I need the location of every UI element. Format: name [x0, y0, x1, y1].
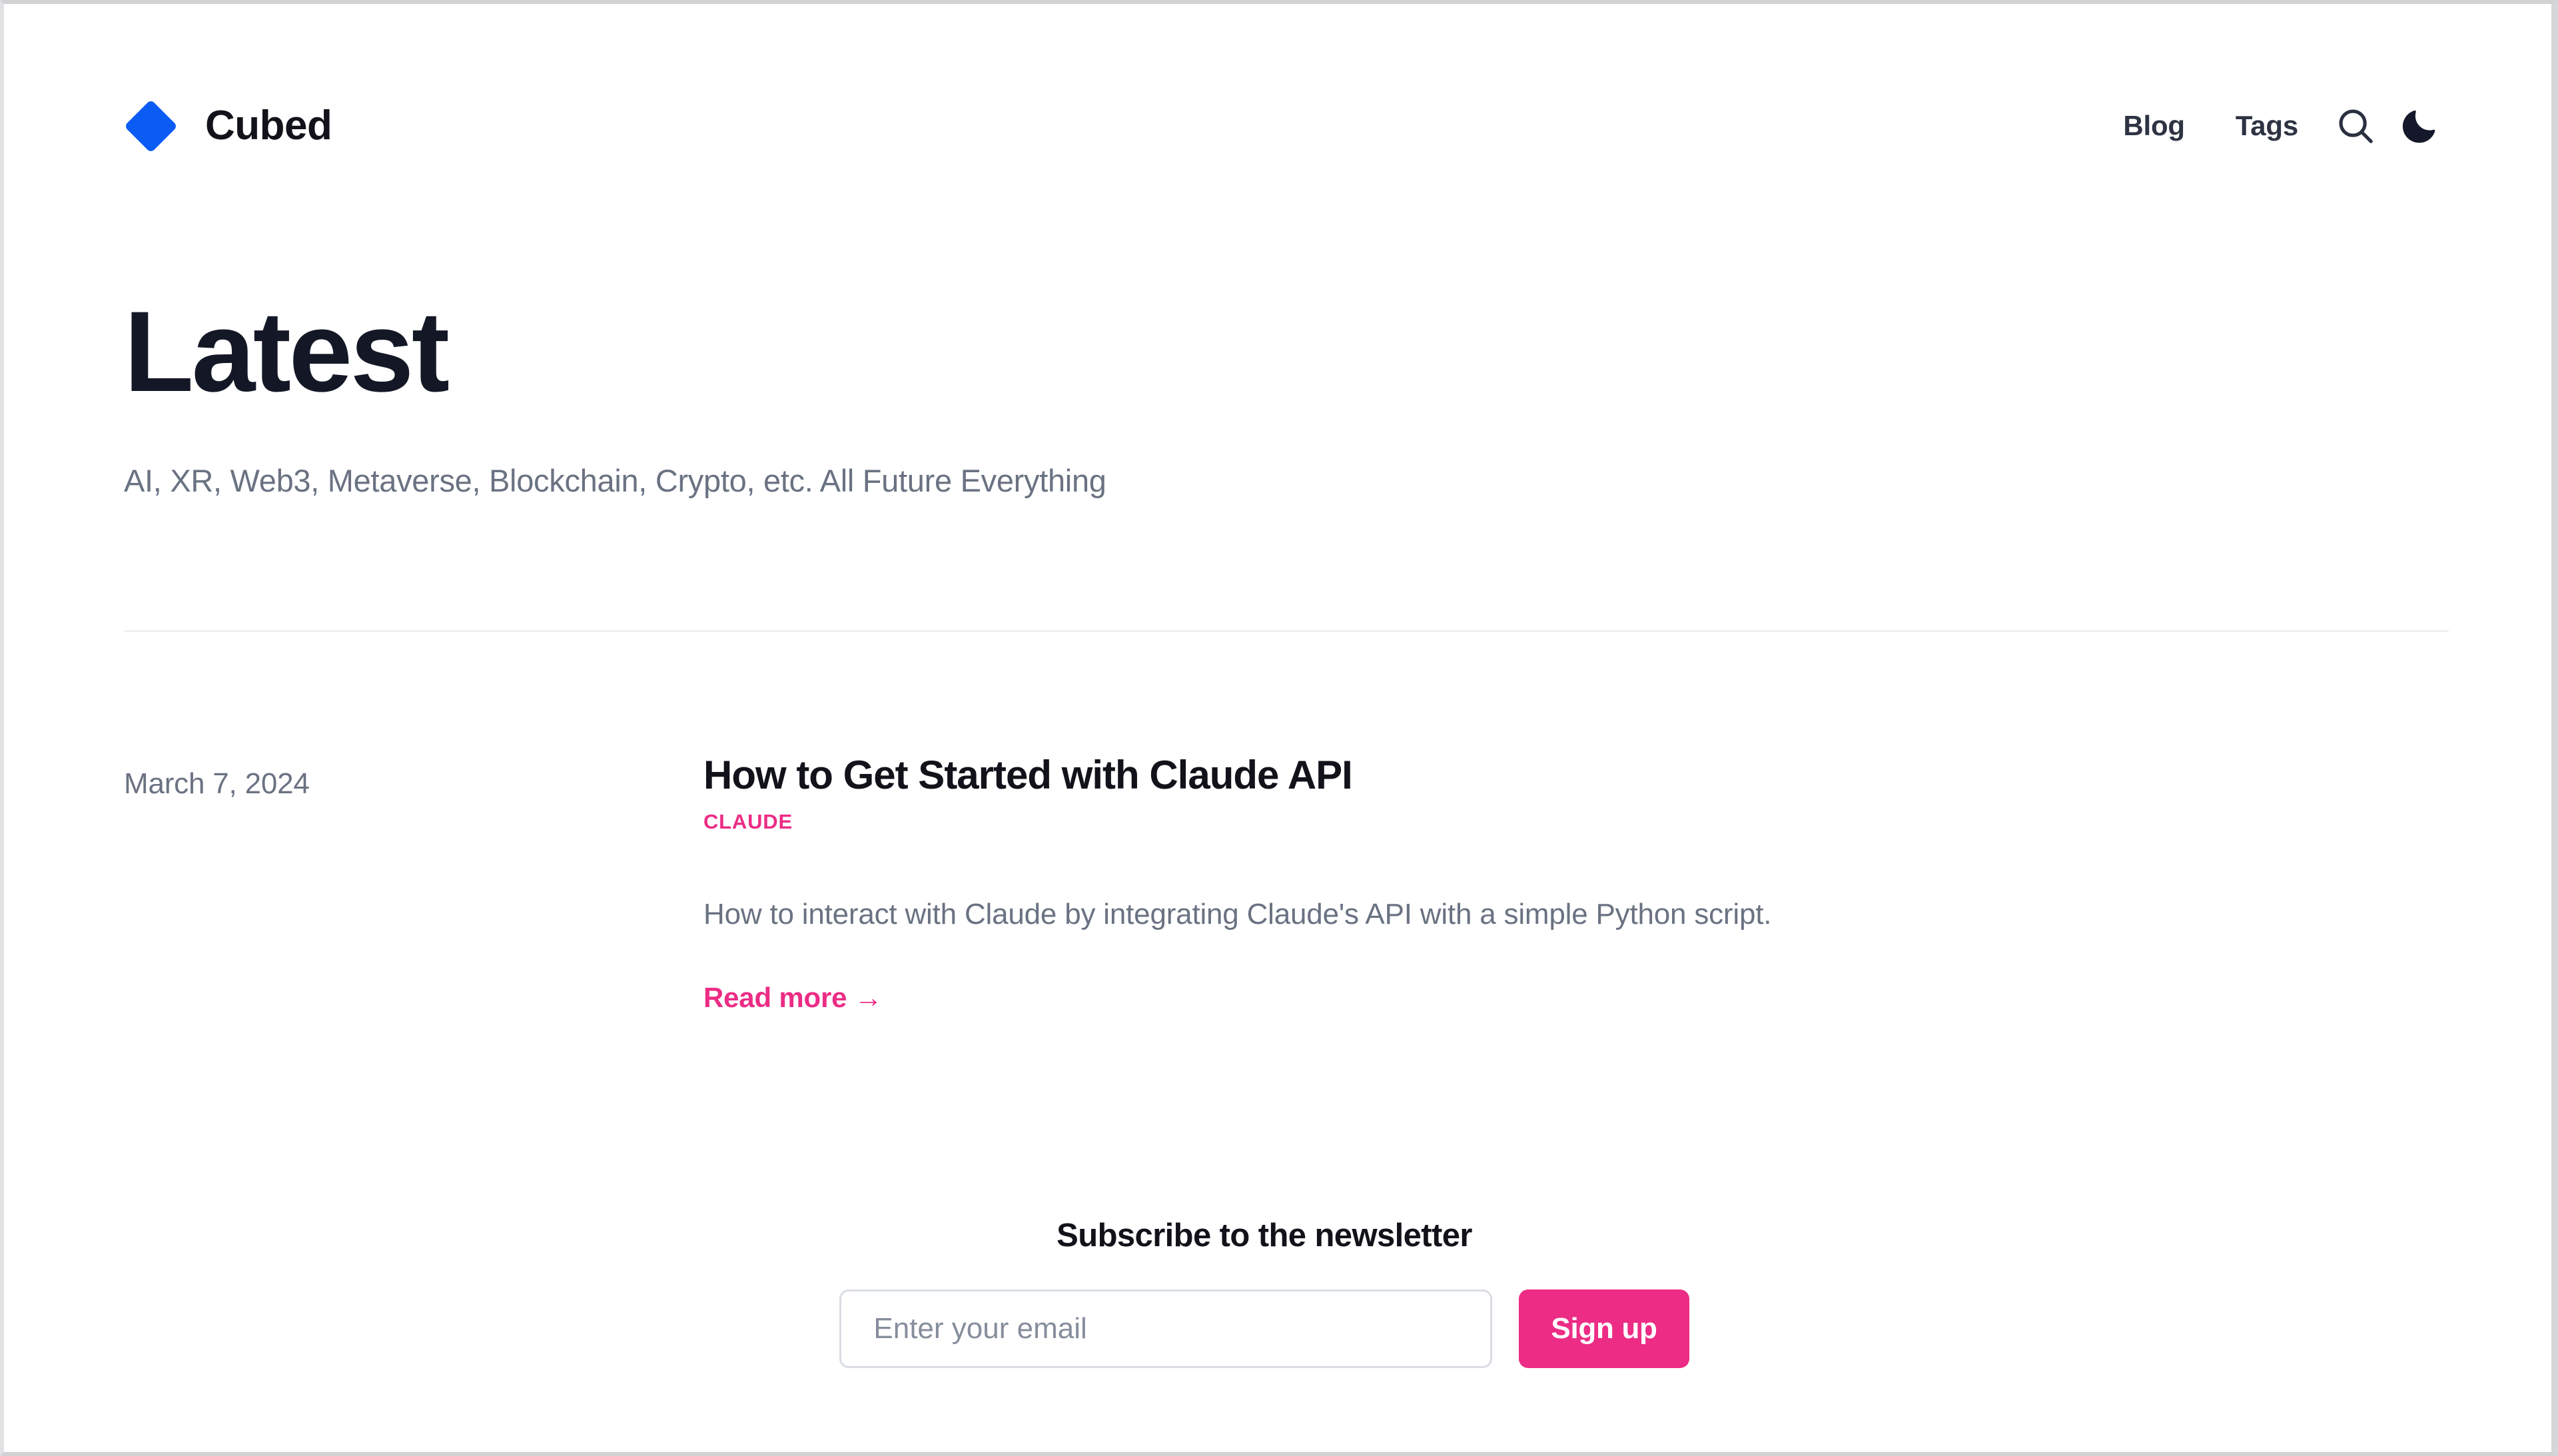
post-body: How to Get Started with Claude API CLAUD… — [703, 751, 2438, 1017]
signup-button[interactable]: Sign up — [1519, 1289, 1689, 1368]
nav-link-tags[interactable]: Tags — [2210, 112, 2324, 140]
read-more-link[interactable]: Read more → — [703, 978, 883, 1018]
post-list: March 7, 2024 How to Get Started with Cl… — [124, 751, 2438, 1017]
newsletter-title: Subscribe to the newsletter — [1057, 1215, 1472, 1258]
brand-name: Cubed — [205, 105, 332, 147]
newsletter-form: Sign up — [839, 1289, 1689, 1368]
newsletter-section: Subscribe to the newsletter Sign up — [4, 1215, 2551, 1368]
page-subtitle: AI, XR, Web3, Metaverse, Blockchain, Cry… — [124, 458, 2438, 505]
search-icon — [2335, 105, 2376, 147]
theme-toggle-button[interactable] — [2387, 94, 2451, 158]
section-divider — [124, 630, 2449, 632]
post-description: How to interact with Claude by integrati… — [703, 891, 2236, 938]
site-header: Cubed Blog Tags — [124, 89, 2451, 163]
search-button[interactable] — [2324, 94, 2387, 158]
browser-viewport: Cubed Blog Tags — [0, 0, 2558, 1456]
main-navigation: Blog Tags — [2098, 94, 2451, 158]
email-field[interactable] — [839, 1289, 1492, 1368]
page-title: Latest — [124, 292, 2438, 412]
blue-diamond-logo-icon — [124, 99, 177, 153]
nav-link-blog[interactable]: Blog — [2098, 112, 2210, 140]
post-title-link[interactable]: How to Get Started with Claude API — [703, 751, 2438, 799]
post-date: March 7, 2024 — [124, 751, 703, 806]
post-tag-claude[interactable]: CLAUDE — [703, 809, 793, 835]
hero-section: Latest AI, XR, Web3, Metaverse, Blockcha… — [124, 292, 2438, 504]
brand-home-link[interactable]: Cubed — [124, 99, 332, 153]
list-item: March 7, 2024 How to Get Started with Cl… — [124, 751, 2438, 1017]
post-tag-list: CLAUDE — [703, 809, 2438, 835]
blog-page: Cubed Blog Tags — [4, 4, 2551, 1452]
moon-icon — [2399, 106, 2439, 146]
